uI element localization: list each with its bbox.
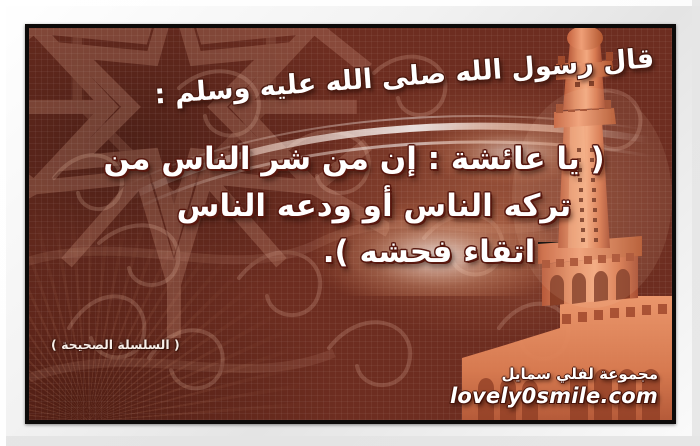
hadith-source-reference: ( السلسلة الصحيحة ): [51, 337, 180, 352]
hadith-quote: ( يا عائشة : إن من شر الناس من تركه النا…: [64, 136, 644, 276]
picture-frame: قال رسول الله صلى الله عليه وسلم : ( يا …: [0, 0, 700, 446]
card-content: قال رسول الله صلى الله عليه وسلم : ( يا …: [29, 28, 672, 420]
hadith-quote-line-1: ( يا عائشة : إن من شر الناس من: [64, 136, 644, 183]
hadith-quote-line-3: اتقاء فحشه ).: [64, 229, 644, 276]
footer-credit: مجموعة لفلي سمايل lovely0smile.com: [450, 365, 658, 408]
hadith-card-canvas: قال رسول الله صلى الله عليه وسلم : ( يا …: [29, 28, 672, 420]
hadith-attribution-calligraphy: قال رسول الله صلى الله عليه وسلم :: [324, 42, 656, 100]
credit-website-url: lovely0smile.com: [450, 384, 658, 408]
hadith-quote-line-2: تركه الناس أو ودعه الناس: [64, 183, 644, 230]
credit-group-name: مجموعة لفلي سمايل: [450, 365, 658, 383]
frame-keyline: قال رسول الله صلى الله عليه وسلم : ( يا …: [25, 24, 676, 424]
